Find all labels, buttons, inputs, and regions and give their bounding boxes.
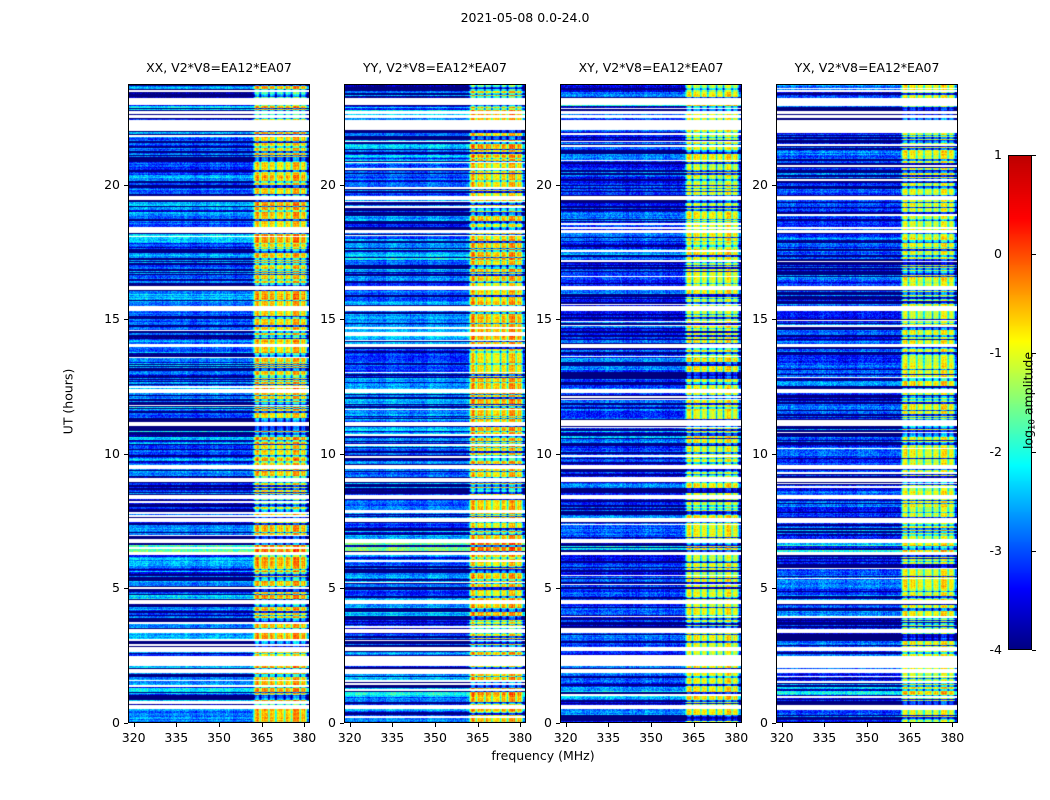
x-tick-mark: [694, 723, 695, 727]
colorbar-tick-mark: [1032, 155, 1036, 156]
heatmap-canvas-yy: [345, 85, 526, 723]
colorbar-tick-mark: [1032, 551, 1036, 552]
y-tick-mark: [340, 185, 344, 186]
colorbar-tick-label: 1: [954, 147, 1002, 162]
y-tick-label: 20: [504, 177, 552, 192]
y-tick-mark: [772, 723, 776, 724]
y-tick-label: 0: [288, 715, 336, 730]
x-tick-mark: [392, 723, 393, 727]
colorbar-tick-mark: [1032, 254, 1036, 255]
x-tick-mark: [435, 723, 436, 727]
y-tick-mark: [340, 319, 344, 320]
y-tick-label: 10: [288, 446, 336, 461]
y-tick-mark: [124, 185, 128, 186]
colorbar-tick-mark: [1032, 353, 1036, 354]
y-tick-label: 20: [720, 177, 768, 192]
heatmap-panel-xx[interactable]: [128, 84, 310, 723]
y-tick-mark: [124, 454, 128, 455]
y-tick-mark: [556, 588, 560, 589]
waterfall-figure: 2021-05-08 0.0-24.0 frequency (MHz) UT (…: [0, 0, 1050, 800]
y-tick-mark: [772, 185, 776, 186]
y-tick-label: 0: [504, 715, 552, 730]
x-tick-mark: [782, 723, 783, 727]
x-tick-mark: [176, 723, 177, 727]
x-tick-label: 380: [922, 730, 982, 745]
heatmap-canvas-yx: [777, 85, 958, 723]
x-tick-mark: [478, 723, 479, 727]
y-tick-label: 5: [720, 580, 768, 595]
y-tick-mark: [556, 454, 560, 455]
y-tick-label: 0: [720, 715, 768, 730]
y-axis-label: UT (hours): [61, 301, 76, 501]
colorbar-tick-mark: [1032, 650, 1036, 651]
colorbar-tick-label: -2: [954, 444, 1002, 459]
y-tick-mark: [124, 588, 128, 589]
x-tick-mark: [566, 723, 567, 727]
y-tick-mark: [556, 319, 560, 320]
x-tick-mark: [350, 723, 351, 727]
heatmap-panel-yy[interactable]: [344, 84, 526, 723]
y-tick-label: 5: [504, 580, 552, 595]
y-tick-label: 10: [72, 446, 120, 461]
y-tick-label: 5: [72, 580, 120, 595]
x-tick-mark: [608, 723, 609, 727]
x-tick-mark: [262, 723, 263, 727]
y-tick-mark: [772, 319, 776, 320]
x-tick-mark: [910, 723, 911, 727]
colorbar-tick-label: 0: [954, 246, 1002, 261]
x-tick-mark: [219, 723, 220, 727]
figure-suptitle: 2021-05-08 0.0-24.0: [0, 10, 1050, 25]
x-tick-mark: [824, 723, 825, 727]
y-tick-mark: [340, 723, 344, 724]
x-tick-mark: [867, 723, 868, 727]
colorbar-tick-label: -1: [954, 345, 1002, 360]
y-tick-mark: [556, 185, 560, 186]
y-tick-label: 10: [504, 446, 552, 461]
x-tick-mark: [952, 723, 953, 727]
colorbar-label: log10 amplitude: [1021, 320, 1036, 480]
y-tick-label: 0: [72, 715, 120, 730]
x-tick-mark: [134, 723, 135, 727]
y-tick-label: 15: [504, 311, 552, 326]
heatmap-canvas-xx: [129, 85, 310, 723]
y-tick-mark: [772, 454, 776, 455]
heatmap-panel-xy[interactable]: [560, 84, 742, 723]
y-tick-label: 15: [72, 311, 120, 326]
y-tick-label: 20: [72, 177, 120, 192]
x-axis-label: frequency (MHz): [128, 748, 958, 763]
y-tick-label: 10: [720, 446, 768, 461]
y-tick-mark: [340, 454, 344, 455]
colorbar-tick-mark: [1032, 452, 1036, 453]
y-tick-label: 20: [288, 177, 336, 192]
colorbar-tick-label: -3: [954, 543, 1002, 558]
y-tick-mark: [772, 588, 776, 589]
y-tick-label: 15: [288, 311, 336, 326]
y-tick-mark: [124, 319, 128, 320]
colorbar-tick-label: -4: [954, 642, 1002, 657]
y-tick-mark: [340, 588, 344, 589]
y-tick-label: 5: [288, 580, 336, 595]
y-tick-label: 15: [720, 311, 768, 326]
heatmap-panel-yx[interactable]: [776, 84, 958, 723]
x-tick-mark: [651, 723, 652, 727]
panel-title-yx: YX, V2*V8=EA12*EA07: [716, 60, 1018, 75]
y-tick-mark: [124, 723, 128, 724]
heatmap-canvas-xy: [561, 85, 742, 723]
y-tick-mark: [556, 723, 560, 724]
